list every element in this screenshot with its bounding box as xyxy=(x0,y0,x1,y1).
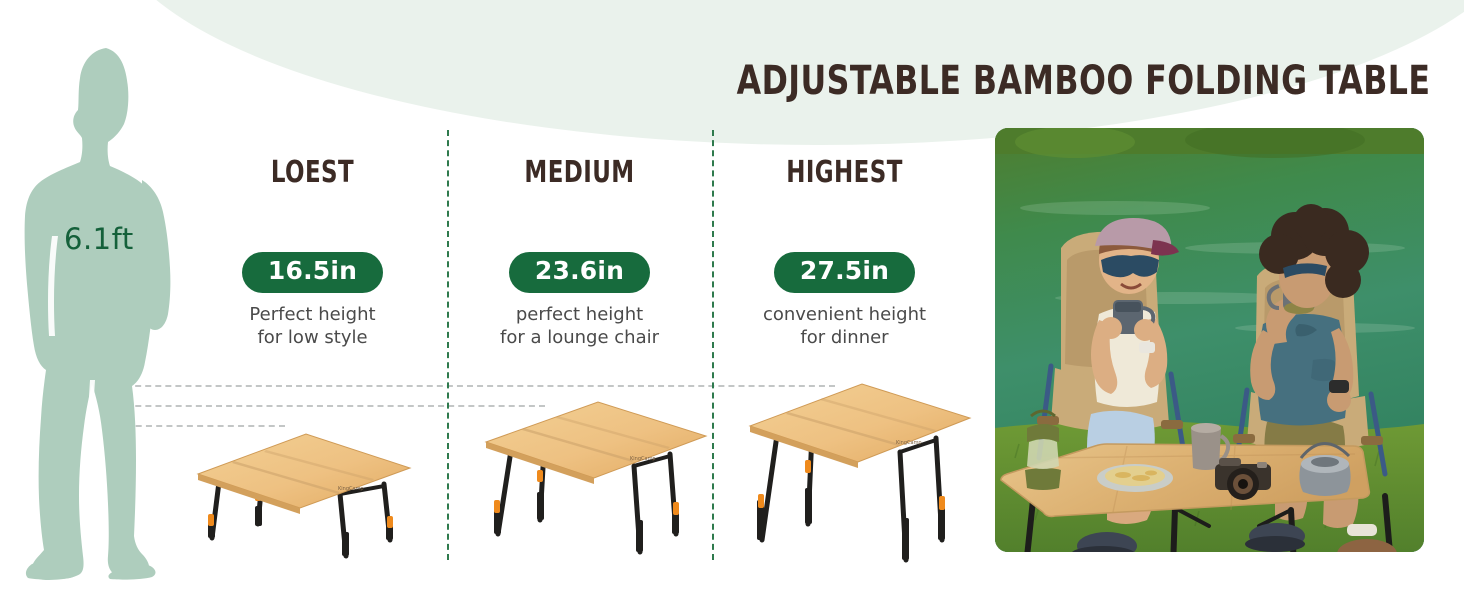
caption-highest-line1: convenient height xyxy=(712,303,977,326)
bamboo-table-highest: KingCamp xyxy=(742,372,978,564)
column-title-highest: HIGHEST xyxy=(732,155,957,190)
caption-highest-line2: for dinner xyxy=(712,326,977,349)
caption-lowest-line2: for low style xyxy=(180,326,445,349)
bamboo-table-medium: KingCamp xyxy=(478,392,714,564)
height-guideline-highest xyxy=(105,385,835,387)
lifestyle-photo-couple-camping xyxy=(995,128,1424,552)
svg-text:KingCamp: KingCamp xyxy=(338,486,364,492)
height-option-highest: HIGHEST 27.5in convenient height for din… xyxy=(712,155,977,349)
column-title-medium: MEDIUM xyxy=(467,155,692,190)
caption-medium-line2: for a lounge chair xyxy=(447,326,712,349)
height-badge-medium: 23.6in xyxy=(509,252,650,293)
page-title: ADJUSTABLE BAMBOO FOLDING TABLE xyxy=(736,58,1430,104)
caption-medium-line1: perfect height xyxy=(447,303,712,326)
person-height-label: 6.1ft xyxy=(64,222,134,256)
svg-text:KingCamp: KingCamp xyxy=(896,440,922,446)
bamboo-table-lowest: KingCamp xyxy=(188,428,416,563)
height-badge-lowest: 16.5in xyxy=(242,252,383,293)
caption-lowest: Perfect height for low style xyxy=(180,303,445,349)
height-option-medium: MEDIUM 23.6in perfect height for a loung… xyxy=(447,155,712,349)
height-badge-highest: 27.5in xyxy=(774,252,915,293)
caption-lowest-line1: Perfect height xyxy=(180,303,445,326)
height-option-lowest: LOEST 16.5in Perfect height for low styl… xyxy=(180,155,445,349)
column-title-lowest: LOEST xyxy=(200,155,425,190)
infographic-canvas: 6.1ft ADJUSTABLE BAMBOO FOLDING TABLE LO… xyxy=(0,0,1464,600)
caption-highest: convenient height for dinner xyxy=(712,303,977,349)
caption-medium: perfect height for a lounge chair xyxy=(447,303,712,349)
svg-text:KingCamp: KingCamp xyxy=(630,456,656,462)
